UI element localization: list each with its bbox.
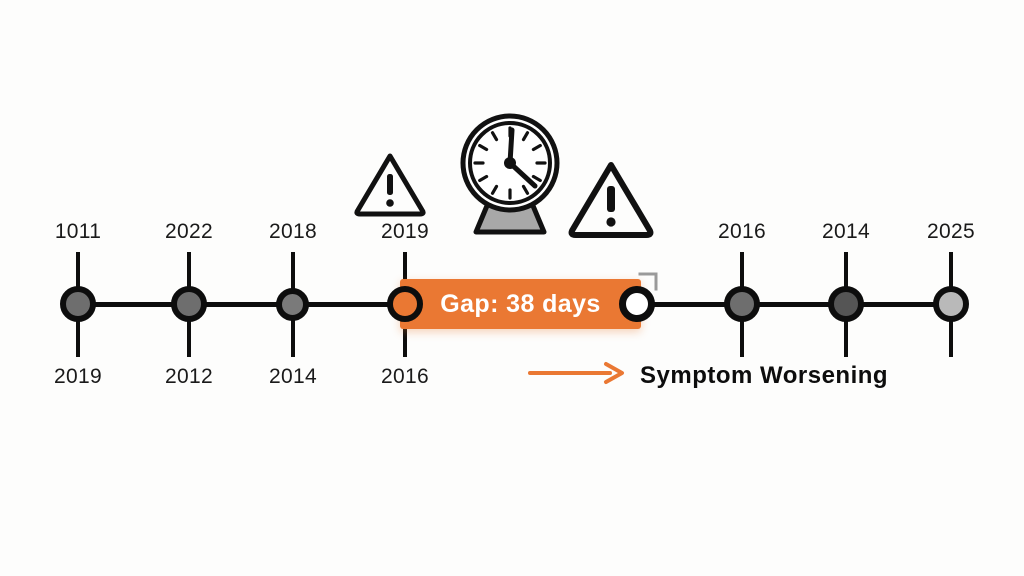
timeline-node-n1[interactable] [60,286,96,322]
timeline-node-n4-highlight[interactable] [387,286,423,322]
node-label-bottom-n3: 2014 [243,365,343,389]
warning-triangle-icon-left [352,150,428,223]
warning-triangle-icon-right [566,158,656,245]
timeline-node-n6[interactable] [724,286,760,322]
symptom-worsening-label: Symptom Worsening [640,362,888,390]
node-label-top-n8: 2025 [901,220,1001,244]
gap-badge-label: Gap: 38 days [440,290,600,319]
node-label-top-n7: 2014 [796,220,896,244]
timeline-axis-right [637,302,951,307]
timeline-node-n7[interactable] [828,286,864,322]
node-label-top-n4: 2019 [355,220,455,244]
timeline-node-n8-faded[interactable] [933,286,969,322]
node-label-top-n1: 1011 [28,220,128,244]
timeline-node-n2[interactable] [171,286,207,322]
node-label-top-n2: 2022 [139,220,239,244]
node-label-bottom-n2: 2012 [139,365,239,389]
symptom-worsening-annotation: Symptom Worsening [528,360,888,391]
gap-badge[interactable]: Gap: 38 days [400,279,641,329]
arrow-right-icon [528,360,626,391]
node-label-bottom-n4: 2016 [355,365,455,389]
node-label-top-n3: 2018 [243,220,343,244]
timeline-node-n3[interactable] [276,288,309,321]
clock-icon [456,106,564,241]
timeline-diagram: Gap: 38 days 1011 2022 2018 2019 2016 20… [0,0,1024,576]
timeline-node-n5-selected[interactable] [619,286,655,322]
node-label-top-n6: 2016 [692,220,792,244]
node-label-bottom-n1: 2019 [28,365,128,389]
